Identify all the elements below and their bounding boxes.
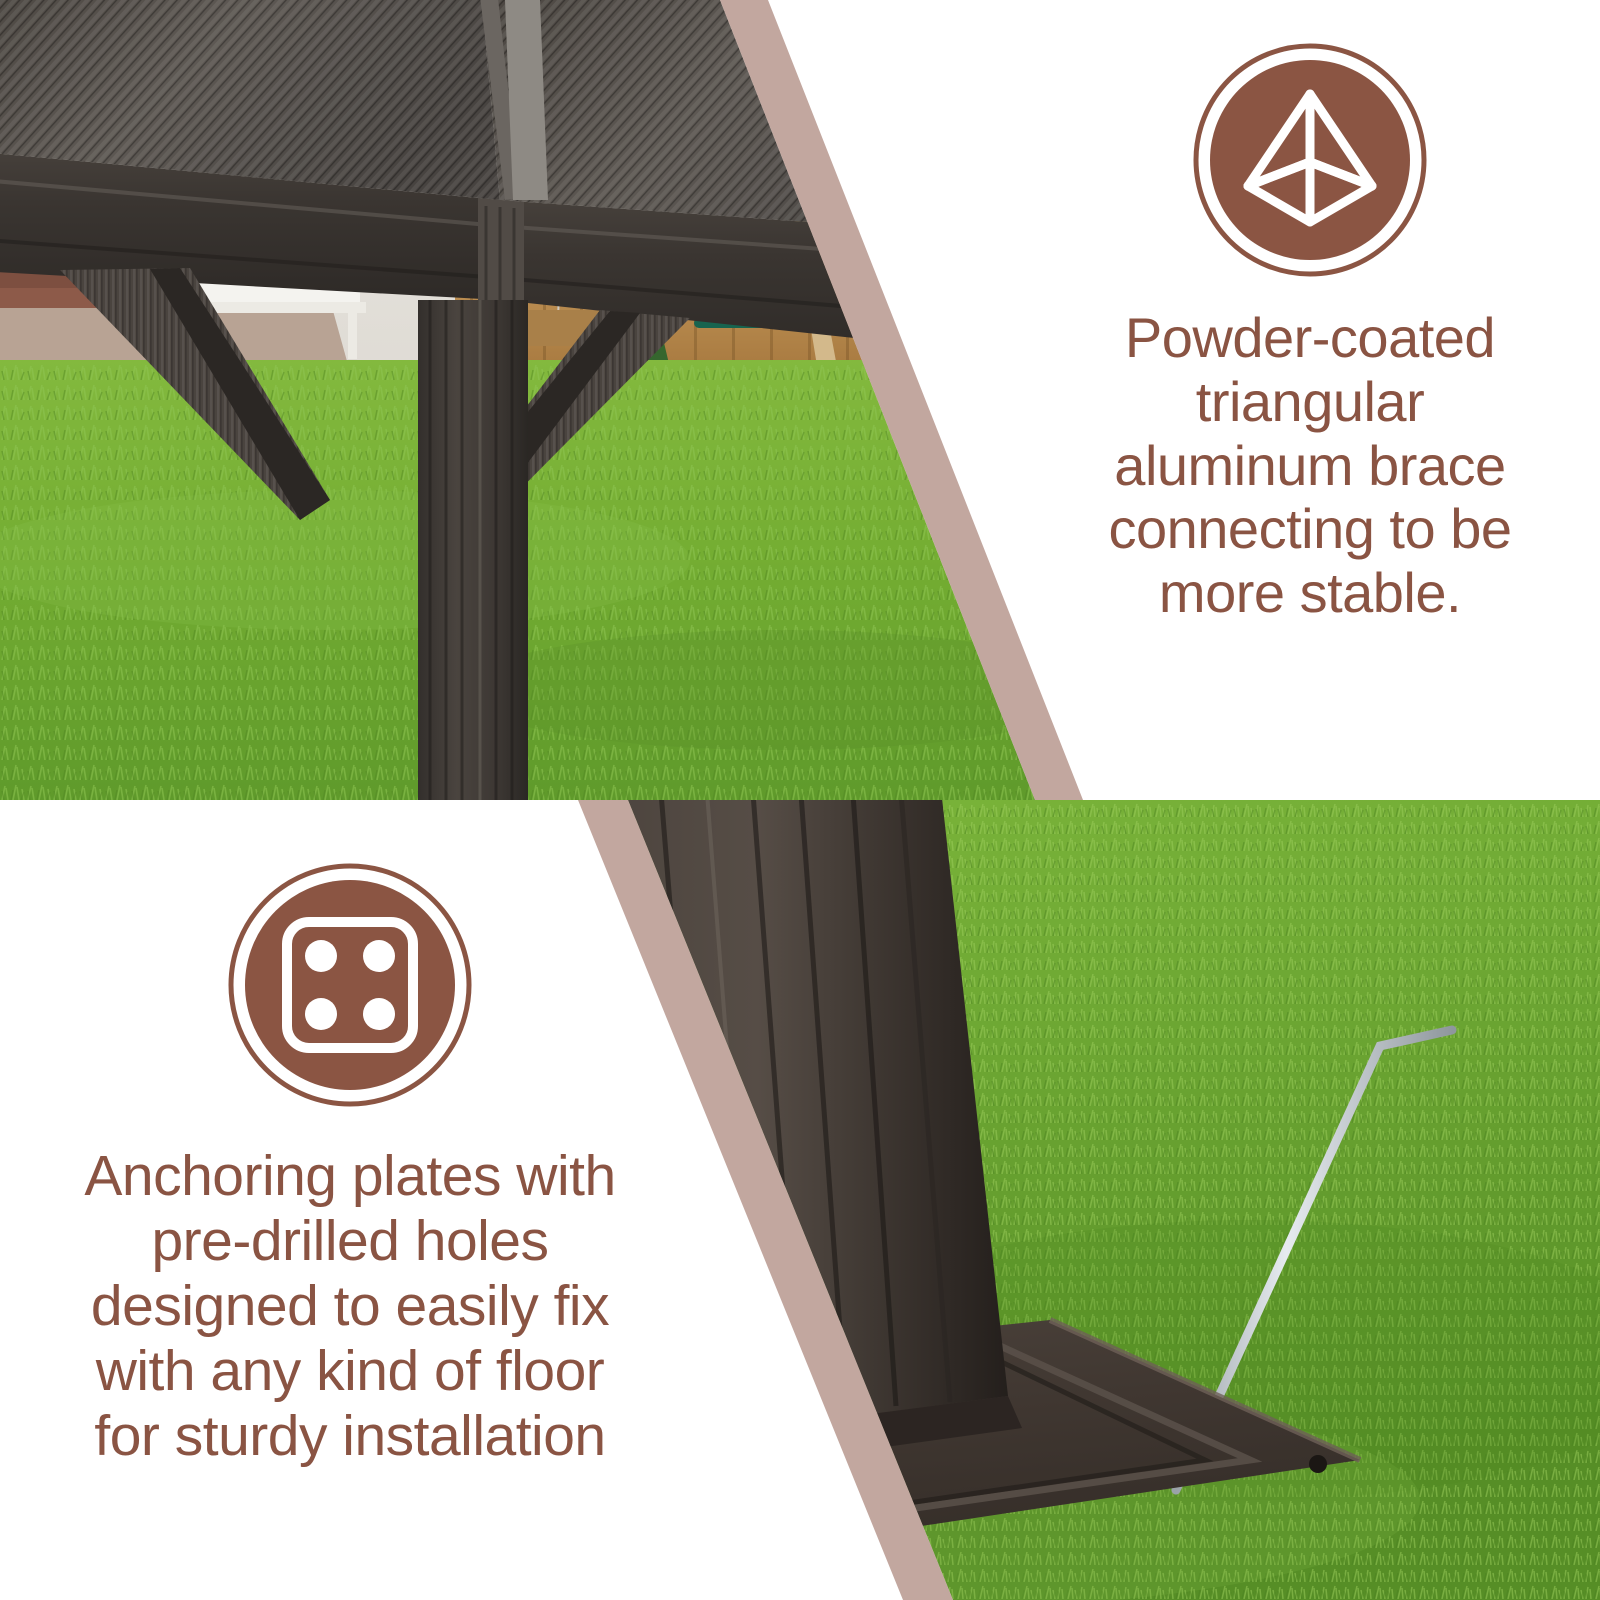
feature-caption-triangular-brace: Powder-coated triangular aluminum brace … <box>1030 306 1590 625</box>
feature-section-triangular-brace: Powder-coated triangular aluminum brace … <box>0 0 1600 800</box>
anchor-plate-icon <box>225 860 475 1110</box>
infographic-canvas: Powder-coated triangular aluminum brace … <box>0 0 1600 1600</box>
pyramid-brace-icon <box>1190 40 1430 280</box>
feature-panel-triangular-brace: Powder-coated triangular aluminum brace … <box>1020 40 1600 760</box>
feature-panel-anchoring-plates: Anchoring plates with pre-drilled holes … <box>0 860 700 1560</box>
feature-caption-anchoring-plates: Anchoring plates with pre-drilled holes … <box>10 1144 690 1469</box>
